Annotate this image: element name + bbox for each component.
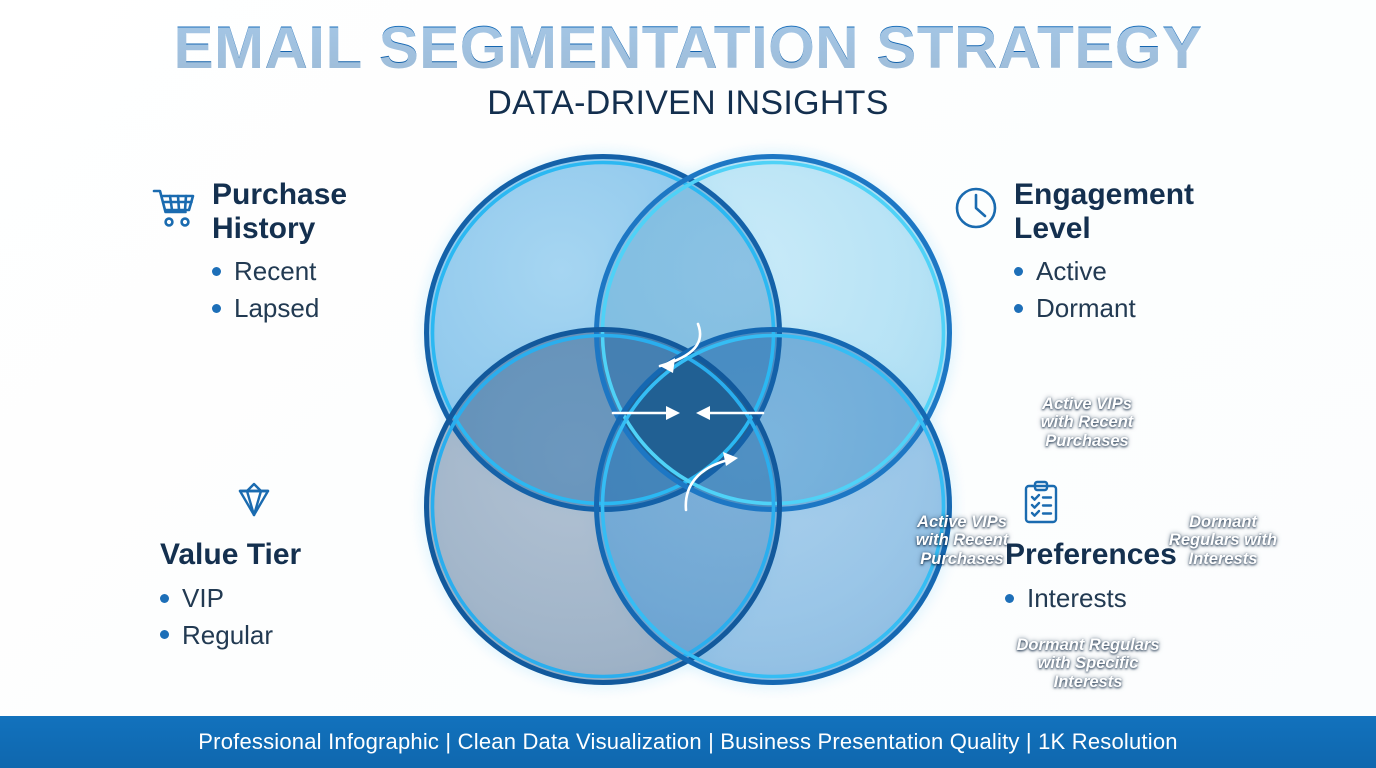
- segment-title: Value Tier: [160, 538, 490, 572]
- bullet-dot: [212, 304, 221, 313]
- segment-header: Preferences: [1005, 478, 1335, 572]
- footer-text: Professional Infographic | Clean Data Vi…: [198, 729, 1177, 755]
- list-item: Regular: [160, 617, 490, 654]
- infographic-canvas: EMAIL SEGMENTATION STRATEGY DATA-DRIVEN …: [0, 0, 1376, 768]
- list-item-label: Interests: [1027, 580, 1127, 617]
- shopping-cart-icon: [150, 184, 198, 232]
- page-title: EMAIL SEGMENTATION STRATEGY: [0, 18, 1376, 78]
- segment-preferences: Preferences Interests: [1005, 478, 1335, 617]
- list-item-label: Dormant: [1036, 290, 1136, 327]
- bullet-dot: [160, 594, 169, 603]
- footer-bar: Professional Infographic | Clean Data Vi…: [0, 716, 1376, 768]
- segment-title: Preferences: [1005, 538, 1335, 572]
- list-item-label: VIP: [182, 580, 224, 617]
- segment-purchase-history: Purchase History Recent Lapsed: [150, 178, 480, 327]
- venn-label-bottom: Dormant Regulars with Specific Interests: [999, 636, 1177, 691]
- segment-header: Value Tier: [160, 478, 490, 572]
- venn-label-top: Active VIPs with Recent Purchases: [1016, 395, 1158, 450]
- list-item: Lapsed: [212, 290, 480, 327]
- segment-value-list: VIP Regular: [160, 580, 490, 654]
- page-subtitle: DATA-DRIVEN INSIGHTS: [0, 84, 1376, 123]
- clock-icon: [952, 184, 1000, 232]
- bullet-dot: [1014, 267, 1023, 276]
- bullet-dot: [1005, 594, 1014, 603]
- segment-header: Engagement Level: [952, 178, 1282, 245]
- list-item: Recent: [212, 253, 480, 290]
- segment-value-list: Recent Lapsed: [212, 253, 480, 327]
- list-item-label: Lapsed: [234, 290, 319, 327]
- list-item: Active: [1014, 253, 1282, 290]
- bullet-dot: [160, 630, 169, 639]
- clipboard-checklist-icon: [1017, 478, 1065, 526]
- list-item: Dormant: [1014, 290, 1282, 327]
- segment-header: Purchase History: [150, 178, 480, 245]
- diamond-icon: [230, 478, 278, 526]
- segment-engagement-level: Engagement Level Active Dormant: [952, 178, 1282, 327]
- segment-value-list: Interests: [1005, 580, 1335, 617]
- list-item-label: Recent: [234, 253, 316, 290]
- segment-title: Purchase History: [212, 178, 347, 245]
- list-item-label: Regular: [182, 617, 273, 654]
- segment-value-tier: Value Tier VIP Regular: [160, 478, 490, 653]
- segment-value-list: Active Dormant: [1014, 253, 1282, 327]
- segment-title: Engagement Level: [1014, 178, 1194, 245]
- list-item: Interests: [1005, 580, 1335, 617]
- header: EMAIL SEGMENTATION STRATEGY DATA-DRIVEN …: [0, 0, 1376, 123]
- list-item-label: Active: [1036, 253, 1107, 290]
- list-item: VIP: [160, 580, 490, 617]
- bullet-dot: [212, 267, 221, 276]
- bullet-dot: [1014, 304, 1023, 313]
